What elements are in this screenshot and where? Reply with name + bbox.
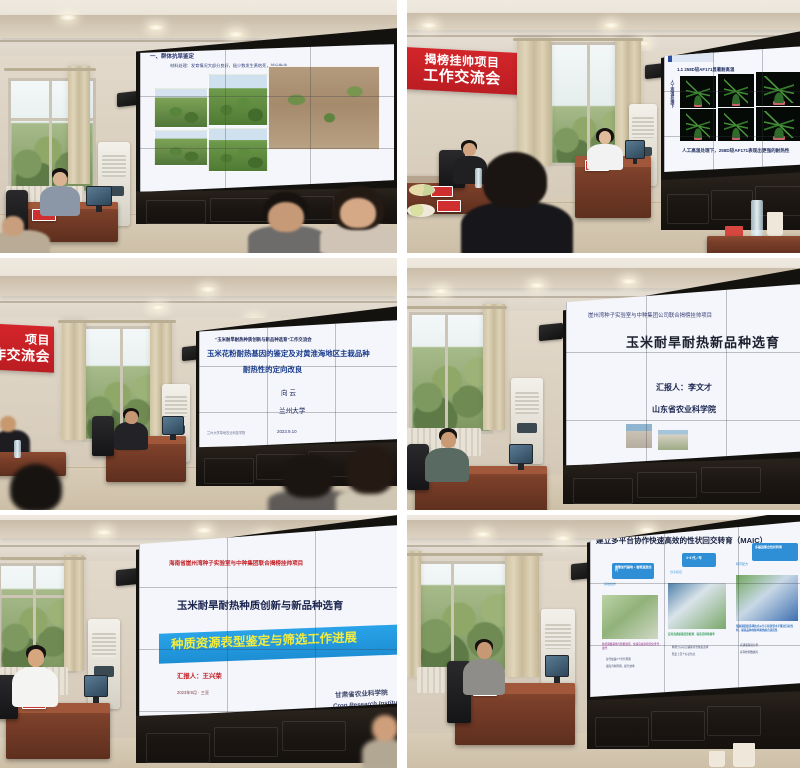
slide-content: 建立多平台协作快速高效的性状回交转育（MAIC） 南繁加代基地 + 智能温室加代…: [590, 521, 800, 697]
event-banner: 项目 作交流会: [0, 321, 54, 373]
audience-member: [320, 186, 397, 253]
slide-plant-photo: [680, 76, 716, 108]
cabinet-door[interactable]: [651, 711, 705, 741]
person-hair: [483, 152, 547, 208]
photo-middle-left[interactable]: 项目 作交流会: [0, 258, 397, 510]
nameplate: [437, 200, 461, 212]
video-wall-cabinet: [563, 458, 800, 504]
slide-col3-bullet-1: 高通量基因分型: [740, 645, 758, 648]
slide-content: 1.1 258D较AF171显著耐高温 人工高温处理下 人工高温处理下，258D…: [664, 46, 800, 172]
banner-text: 项目 作交流会: [0, 321, 54, 373]
person-body: [461, 202, 573, 253]
slide-col2-bullet-2: 稳定上百个标记位点: [672, 654, 695, 657]
person-head: [0, 416, 16, 432]
paper-cup: [767, 212, 783, 236]
monitor-stand: [633, 159, 638, 164]
wall-speaker-icon: [539, 323, 563, 342]
slide-title-line-2: 耐热性的定向改良: [243, 366, 302, 374]
chair: [92, 416, 114, 456]
room-background: 项目 作交流会: [0, 258, 397, 510]
seated-presenter: [114, 408, 148, 446]
seated-attendee: [425, 428, 469, 478]
cabinet-door[interactable]: [711, 190, 753, 220]
person-body: [12, 667, 58, 707]
slide-content: 海南省崖州湾种子实验室与中种集团联合揭榜挂帅项目 玉米耐旱耐热种质创新与新品种选…: [139, 525, 397, 717]
downlight-icon: [433, 288, 449, 295]
slide-affiliation: 山东省农业科学院: [652, 406, 716, 415]
room-background: 揭榜挂帅项目 工作交流会: [407, 0, 800, 253]
paper-cup: [733, 743, 755, 767]
audience-member: [336, 446, 397, 510]
slide-plant-photo: [718, 108, 754, 141]
curtain-rod: [407, 306, 507, 309]
window-mullion: [451, 564, 454, 670]
slide-title-line-1: 玉米花粉耐热基因的鉴定及对黄淮海地区主栽品种: [207, 350, 370, 358]
slide-col2-bullet-1: 精准分子标记辅助背景恢复选择: [672, 647, 708, 650]
slide-plant-photo: [718, 74, 754, 107]
person-body: [463, 659, 505, 695]
pot: [694, 136, 703, 140]
slide-col2-caption: 应用高通量基因型检测，提高选择准确率: [668, 633, 726, 637]
desk-monitor: [509, 444, 533, 470]
slide-image-tile: [208, 128, 268, 172]
photo-top-left[interactable]: 一、群体抗旱鉴定 材料处理：发育情况大部分良好，极少数发生黄枯死，部分失苗: [0, 0, 397, 253]
cabinet-door[interactable]: [637, 472, 697, 498]
video-wall[interactable]: 海南省崖州湾种子实验室与中种集团联合揭榜挂帅项目 玉米耐旱耐热种质创新与新品种选…: [136, 515, 397, 763]
slide-subtag-3: 转育配方: [736, 563, 748, 566]
monitor-stand: [518, 464, 524, 470]
room-background: 建立多平台协作快速高效的性状回交转育（MAIC） 南繁加代基地 + 智能温室加代…: [407, 515, 800, 768]
video-wall[interactable]: 建立多平台协作快速高效的性状回交转育（MAIC） 南繁加代基地 + 智能温室加代…: [587, 515, 800, 749]
person-body: [587, 144, 623, 170]
slide-date: 2023.9.10: [277, 430, 297, 435]
downlight-icon: [475, 531, 491, 538]
person-body: [425, 448, 469, 482]
video-wall-screen[interactable]: 1.1 258D较AF171显著耐高温 人工高温处理下 人工高温处理下，258D…: [664, 46, 800, 172]
photo-bottom-right[interactable]: 建立多平台协作快速高效的性状回交转育（MAIC） 南繁加代基地 + 智能温室加代…: [407, 515, 800, 768]
slide-image-tile: [268, 66, 380, 150]
slide-subtag-2: 分子标记: [670, 571, 682, 574]
ac-display-panel: [517, 423, 538, 433]
person-hair: [282, 454, 334, 498]
pot: [773, 136, 784, 140]
monitor-stand: [96, 206, 102, 212]
paper-cup: [709, 751, 725, 767]
slide-plant-photo: [756, 72, 800, 106]
curtain-rod: [0, 557, 86, 560]
downlight-icon: [200, 286, 216, 293]
slide-title: 玉米耐旱耐热新品种选育: [626, 336, 780, 350]
video-wall[interactable]: 1.1 258D较AF171显著耐高温 人工高温处理下 人工高温处理下，258D…: [661, 30, 800, 230]
curtain: [517, 38, 551, 166]
slide-image-tile: [154, 130, 208, 166]
video-wall[interactable]: 崖州湾种子实验室与中种集团公司联合揭榜挂帅项目 玉米耐旱耐热新品种选育 汇报人：…: [563, 268, 800, 504]
slide-tag-1-label: 南繁加代基地 + 智能温室加代: [615, 566, 653, 573]
audience-member: [4, 464, 76, 510]
downlight-icon: [96, 529, 112, 536]
slide-tag-2-label: 4~6 代／年: [686, 557, 702, 561]
banner-line-2: 作交流会: [0, 345, 50, 364]
foreground-attendee: [461, 152, 573, 253]
seated-attendee: [463, 639, 505, 691]
person-hair: [10, 464, 62, 510]
curtain-rod: [407, 553, 543, 556]
slide-col1-bullet-2: 缩短育种周期，提升效率: [606, 666, 635, 669]
ac-grille: [92, 633, 116, 656]
water-bottle: [751, 200, 763, 238]
slide-footnote: 兰州大学草地农业科技学院: [207, 432, 245, 436]
cabinet-door[interactable]: [701, 467, 761, 493]
downlight-icon: [603, 22, 619, 29]
window-mullion: [445, 315, 448, 431]
video-wall-screen[interactable]: 海南省崖州湾种子实验室与中种集团联合揭榜挂帅项目 玉米耐旱耐热种质创新与新品种选…: [139, 525, 397, 717]
slide-title: 建立多平台协作快速高效的性状回交转育（MAIC）: [596, 537, 767, 545]
person-head: [53, 172, 67, 186]
monitor-stand: [93, 697, 99, 703]
curtain: [407, 551, 421, 677]
slide-col1-image: [602, 595, 658, 639]
slide-plant-photo: [756, 107, 800, 141]
video-wall-screen[interactable]: “玉米耐旱耐热种质创新与新品种选育”工作交流会 玉米花粉耐热基因的鉴定及对黄淮海…: [199, 320, 397, 448]
cabinet-door[interactable]: [204, 458, 254, 484]
video-wall-screen[interactable]: 崖州湾种子实验室与中种集团公司联合揭榜挂帅项目 玉米耐旱耐热新品种选育 汇报人：…: [566, 284, 800, 466]
pot: [732, 136, 741, 140]
fruit-plate: [407, 204, 435, 217]
monitor-screen: [509, 444, 533, 464]
desk-monitor: [86, 186, 112, 212]
front-table: [707, 236, 800, 253]
curtain: [505, 553, 539, 677]
slide-date: 2023年9月 · 三亚: [177, 691, 209, 696]
person-head: [372, 715, 397, 741]
slide-affiliation-cn: 甘肃省农业科学院: [335, 690, 388, 700]
cabinet-door[interactable]: [214, 727, 278, 757]
video-wall-cabinet: [136, 707, 397, 763]
window: [409, 312, 493, 434]
video-wall-screen[interactable]: 一、群体抗旱鉴定 材料处理：发育情况大部分良好，极少数发生黄枯死，部分失苗: [140, 44, 394, 192]
slide-image-tile: [208, 74, 268, 126]
person-body: [40, 186, 80, 216]
fruit-plate: [409, 184, 435, 196]
slide-presenter-label: 汇报人：王兴荣: [177, 673, 222, 680]
ceiling-soffit: [407, 13, 800, 31]
slide-presenter: 向 云: [281, 390, 296, 397]
curtain-rod: [513, 38, 643, 41]
person-head: [28, 649, 44, 667]
cabinet-door[interactable]: [282, 721, 346, 751]
slide-col1-bullet-1: 每代加速2个世代周期: [606, 659, 631, 662]
slide-plant-photo: [680, 109, 716, 141]
banner-text: 揭榜挂帅项目 工作交流会: [407, 47, 523, 95]
person-head: [340, 198, 376, 228]
slide-eyebrow: 海南省崖州湾种子实验室与中种集团联合揭榜挂帅项目: [169, 561, 303, 567]
banner-line-2: 工作交流会: [423, 67, 501, 88]
desk-monitor: [545, 655, 569, 683]
downlight-icon: [555, 535, 571, 542]
monitor-screen: [625, 140, 645, 159]
cabinet-door[interactable]: [707, 706, 761, 736]
monitor-stand: [170, 435, 175, 440]
room-background: 崖州湾种子实验室与中种集团公司联合揭榜挂帅项目 玉米耐旱耐热新品种选育 汇报人：…: [407, 258, 800, 510]
downlight-icon: [60, 14, 76, 21]
downlight-icon: [421, 22, 437, 29]
female-presenter: [587, 128, 623, 166]
slide-col2-image: [668, 583, 726, 629]
slide-content: “玉米耐旱耐热种质创新与新品种选育”工作交流会 玉米花粉耐热基因的鉴定及对黄淮海…: [199, 320, 397, 448]
slide-building-photo: [626, 424, 652, 448]
slide-building-photo: [658, 430, 688, 450]
cabinet-door[interactable]: [146, 200, 206, 224]
ceiling-edge: [0, 301, 397, 303]
desk-monitor: [625, 140, 645, 164]
slide-subtag-1: 基地协作: [604, 583, 616, 586]
person-head: [125, 411, 138, 424]
ac-grille: [632, 117, 653, 138]
person-body: [362, 739, 397, 768]
video-wall-screen[interactable]: 建立多平台协作快速高效的性状回交转育（MAIC） 南繁加代基地 + 智能温室加代…: [590, 521, 800, 697]
slide-heading: 1.1 258D较AF171显著耐高温: [677, 68, 734, 73]
slide-footer: 人工高温处理下，258D较AF171表现出更强的耐热性: [682, 148, 789, 153]
window-foliage: [412, 347, 490, 431]
presenter-desk: [6, 703, 110, 759]
downlight-icon: [529, 282, 545, 289]
monitor-screen: [162, 416, 184, 435]
ceiling-soffit: [0, 276, 397, 296]
slide-col1-caption: 依托南繁基地与智能温室，快速完成多轮回交世代加代: [602, 643, 660, 650]
monitor-stand: [554, 677, 560, 683]
curtain: [483, 304, 505, 430]
audience-member: [362, 715, 397, 768]
water-bottle: [14, 440, 21, 458]
pot: [773, 101, 784, 105]
curtain: [68, 66, 90, 184]
person-head: [477, 642, 492, 659]
person-hair: [346, 446, 394, 494]
cabinet-door[interactable]: [573, 478, 633, 504]
person-head: [268, 202, 304, 232]
slide-side-label: 人工高温处理下: [670, 80, 674, 108]
person-body: [114, 422, 148, 450]
slide-title: 玉米耐旱耐热种质创新与新品种选育: [177, 601, 343, 612]
cabinet-door[interactable]: [146, 733, 210, 763]
monitor-screen: [86, 186, 112, 206]
video-wall-cabinet: [587, 691, 800, 749]
audience-member: [248, 192, 326, 253]
monitor-screen: [545, 655, 569, 677]
slide-eyebrow: 崖州湾种子实验室与中种集团公司联合揭榜挂帅项目: [588, 314, 712, 320]
slide-eyebrow: “玉米耐旱耐热种质创新与新品种选育”工作交流会: [215, 338, 312, 343]
ac-grille: [515, 392, 539, 414]
slide-presenter-label: 汇报人：李文才: [656, 384, 712, 393]
slide-col3-caption: 借助基因组选择技术从分子和表型水平聚合目标性状，提高品种的耐旱耐热综合适应性: [736, 625, 798, 632]
curtain-rod: [4, 68, 96, 71]
photo-top-right[interactable]: 揭榜挂帅项目 工作交流会: [407, 0, 800, 253]
slide-tag-3-label: 多基因聚合性状转育: [755, 546, 797, 549]
downlight-icon: [150, 304, 166, 311]
monitor-screen: [84, 675, 108, 697]
slide-affiliation: 兰州大学: [279, 408, 305, 415]
curtain: [62, 320, 86, 440]
seated-presenter: [12, 645, 58, 703]
curtain: [64, 555, 84, 671]
person-head: [599, 131, 611, 144]
ac-grille: [102, 155, 126, 177]
slide-col3-bullet-2: 系列检测数据库: [740, 652, 758, 655]
cabinet-door[interactable]: [595, 717, 649, 747]
person-head: [441, 432, 456, 448]
cabinet-door[interactable]: [667, 194, 709, 224]
room-background: 海南省崖州湾种子实验室与中种集团联合揭榜挂帅项目 玉米耐旱耐热种质创新与新品种选…: [0, 515, 397, 768]
ac-grille: [165, 396, 186, 416]
photo-middle-right[interactable]: 崖州湾种子实验室与中种集团公司联合揭榜挂帅项目 玉米耐旱耐热新品种选育 汇报人：…: [407, 258, 800, 510]
photo-collage: 一、群体抗旱鉴定 材料处理：发育情况大部分良好，极少数发生黄枯死，部分失苗: [0, 0, 800, 763]
desk-monitor: [84, 675, 108, 703]
curtain-rod: [58, 320, 176, 323]
slide-heading: 一、群体抗旱鉴定: [150, 54, 194, 60]
photo-bottom-left[interactable]: 海南省崖州湾种子实验室与中种集团联合揭榜挂帅项目 玉米耐旱耐热种质创新与新品种选…: [0, 515, 397, 768]
audience-member: [0, 216, 50, 253]
slide-image-tile: [154, 88, 208, 128]
person-head: [2, 216, 24, 236]
pot: [732, 102, 741, 106]
slide-content: 一、群体抗旱鉴定 材料处理：发育情况大部分良好，极少数发生黄枯死，部分失苗: [140, 44, 394, 192]
slide-col3-image: [736, 575, 798, 621]
event-banner: 揭榜挂帅项目 工作交流会: [407, 47, 523, 95]
pot: [694, 103, 703, 107]
room-background: 一、群体抗旱鉴定 材料处理：发育情况大部分良好，极少数发生黄枯死，部分失苗: [0, 0, 397, 253]
banner-line-1: 项目: [25, 333, 50, 348]
window-mullion: [1, 595, 73, 598]
desk-monitor: [162, 416, 184, 440]
seated-presenter: [40, 168, 80, 212]
ac-grille: [545, 624, 571, 649]
slide-content: 崖州湾种子实验室与中种集团公司联合揭榜挂帅项目 玉米耐旱耐热新品种选育 汇报人：…: [566, 284, 800, 466]
